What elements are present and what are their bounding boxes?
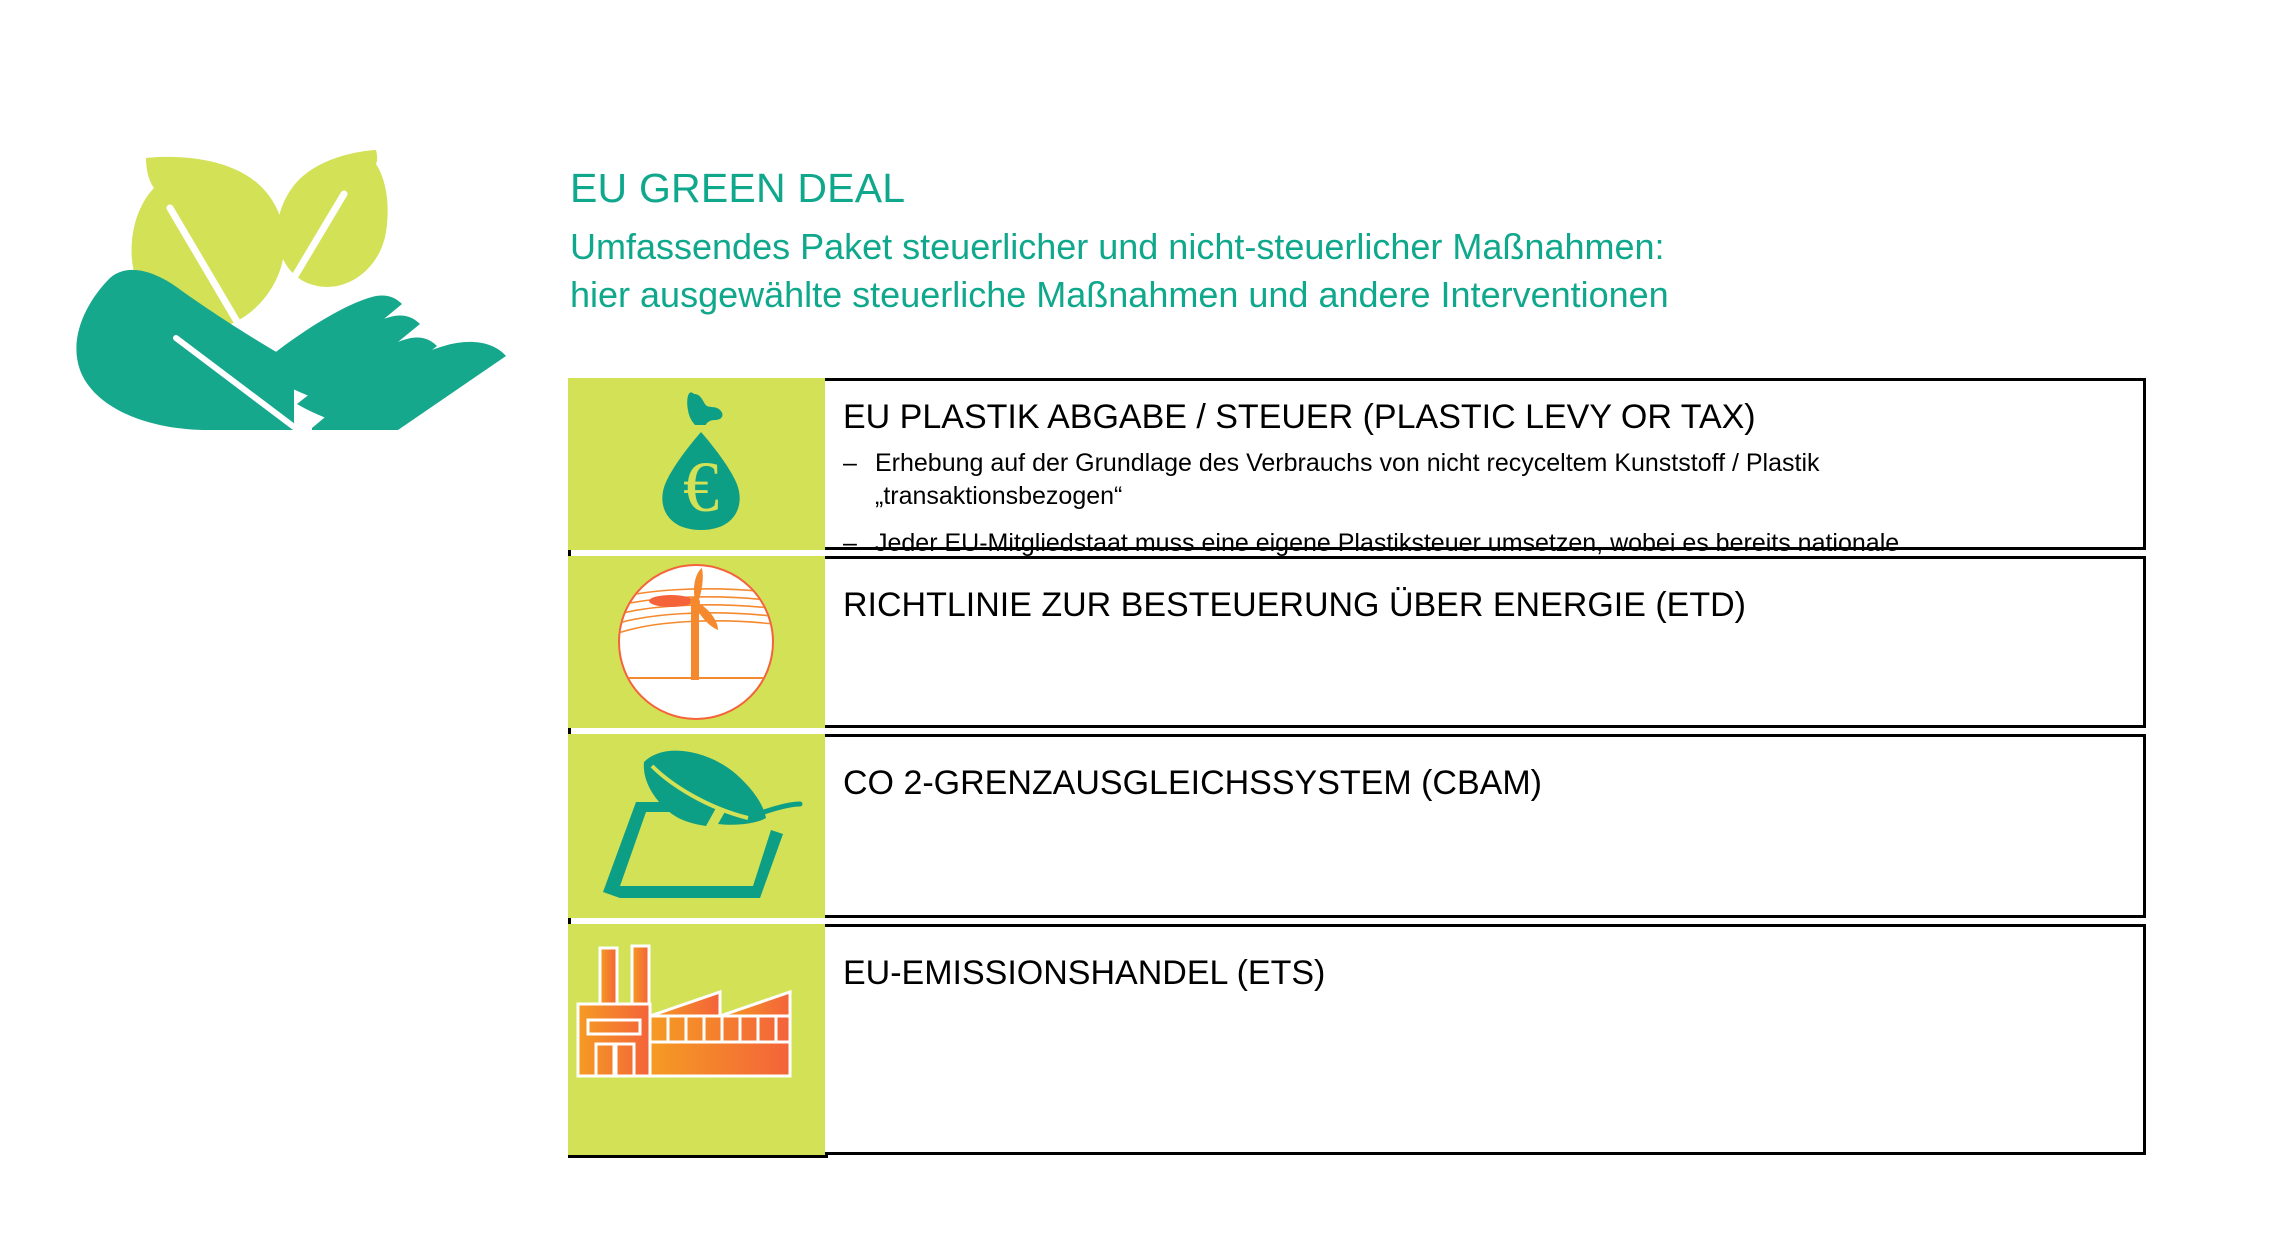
row-text-cell: EU PLASTIK ABGABE / STEUER (PLASTIC LEVY… (825, 378, 2146, 550)
row-icon-cell (568, 924, 825, 1155)
bullet-text: Erhebung auf der Grundlage des Verbrauch… (875, 447, 2135, 513)
page-title: EU GREEN DEAL (570, 163, 2070, 213)
heading-block: EU GREEN DEAL Umfassendes Paket steuerli… (570, 163, 2070, 319)
table-row: € EU PLASTIK ABGABE / STEUER (PLASTIC LE… (568, 378, 2146, 553)
feather-document-icon (568, 734, 825, 918)
page-subtitle-line-2: hier ausgewählte steuerliche Maßnahmen u… (570, 271, 2070, 319)
measures-table: € EU PLASTIK ABGABE / STEUER (PLASTIC LE… (568, 378, 2146, 1158)
row-title: RICHTLINIE ZUR BESTEUERUNG ÜBER ENERGIE … (843, 585, 2135, 625)
svg-text:€: € (683, 447, 719, 527)
bullet-dash: – (843, 447, 857, 480)
row-text-cell: EU-EMISSIONSHANDEL (ETS) (825, 924, 2146, 1155)
row-title: EU PLASTIK ABGABE / STEUER (PLASTIC LEVY… (843, 397, 2135, 437)
row-title: EU-EMISSIONSHANDEL (ETS) (843, 953, 2135, 993)
table-row: EU-EMISSIONSHANDEL (ETS) (568, 924, 2146, 1158)
hand-with-leaves-logo (58, 150, 528, 430)
table-row: RICHTLINIE ZUR BESTEUERUNG ÜBER ENERGIE … (568, 556, 2146, 731)
factory-icon (568, 924, 825, 1155)
row-icon-cell (568, 734, 825, 918)
table-row: CO 2-GRENZAUSGLEICHSSYSTEM (CBAM) (568, 734, 2146, 921)
row-title: CO 2-GRENZAUSGLEICHSSYSTEM (CBAM) (843, 763, 2135, 803)
money-bag-euro-icon: € (568, 378, 825, 550)
row-text-cell: CO 2-GRENZAUSGLEICHSSYSTEM (CBAM) (825, 734, 2146, 918)
bullet-item: – Erhebung auf der Grundlage des Verbrau… (843, 447, 2135, 513)
row-icon-cell: € (568, 378, 825, 550)
page-subtitle-line-1: Umfassendes Paket steuerlicher und nicht… (570, 223, 2070, 271)
wind-turbine-icon (568, 556, 825, 728)
row-icon-cell (568, 556, 825, 728)
row-text-cell: RICHTLINIE ZUR BESTEUERUNG ÜBER ENERGIE … (825, 556, 2146, 728)
